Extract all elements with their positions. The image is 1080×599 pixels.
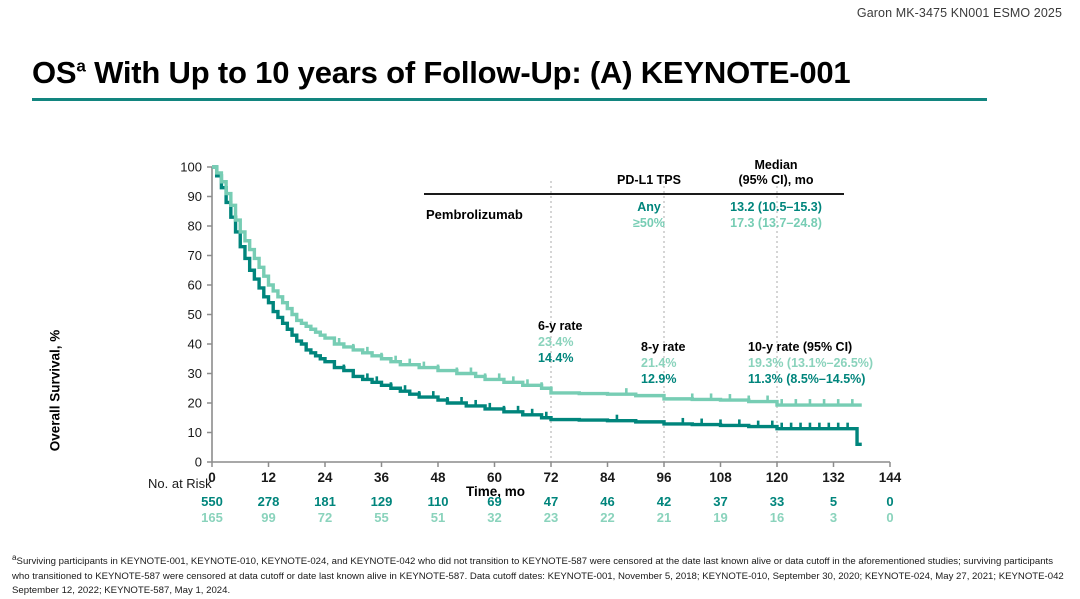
annotation-10y-rate: 10-y rate (95% CI) 19.3% (13.1%–26.5%) 1… bbox=[748, 339, 873, 387]
legend-group-any: Any bbox=[590, 194, 708, 214]
risk-cell: 51 bbox=[431, 510, 445, 525]
annotation-8y-rate: 8-y rate 21.4% 12.9% bbox=[641, 339, 685, 387]
annotation-8y-light: 21.4% bbox=[641, 355, 685, 371]
y-tick-label-50: 50 bbox=[188, 307, 202, 322]
risk-table-label: No. at Risk bbox=[148, 476, 212, 491]
x-tick-label-60: 60 bbox=[487, 470, 502, 485]
y-tick-label-40: 40 bbox=[188, 337, 202, 352]
risk-cell: 21 bbox=[657, 510, 671, 525]
y-tick-label-0: 0 bbox=[195, 455, 202, 470]
footnote: aSurviving participants in KEYNOTE-001, … bbox=[12, 552, 1068, 599]
legend-median-50: 17.3 (13.7–24.8) bbox=[708, 214, 844, 230]
legend-header-row: PD-L1 TPS Median (95% CI), mo bbox=[424, 158, 844, 191]
y-axis-title: Overall Survival, % bbox=[47, 330, 62, 452]
risk-cell: 19 bbox=[713, 510, 727, 525]
legend-col-group: PD-L1 TPS bbox=[590, 158, 708, 191]
risk-cell: 3 bbox=[830, 510, 837, 525]
legend-table: PD-L1 TPS Median (95% CI), mo Pembrolizu… bbox=[424, 158, 844, 230]
x-tick-label-132: 132 bbox=[822, 470, 845, 485]
legend-col-median: Median (95% CI), mo bbox=[708, 158, 844, 191]
y-tick-label-30: 30 bbox=[188, 366, 202, 381]
risk-cell: 99 bbox=[261, 510, 275, 525]
legend-treatment-label: Pembrolizumab bbox=[424, 194, 590, 230]
x-tick-label-96: 96 bbox=[656, 470, 672, 485]
x-tick-label-72: 72 bbox=[543, 470, 558, 485]
risk-cell: 47 bbox=[544, 494, 558, 509]
y-tick-label-20: 20 bbox=[188, 396, 202, 411]
risk-cell: 110 bbox=[428, 494, 449, 509]
legend-median-any: 13.2 (10.5–15.3) bbox=[708, 194, 844, 214]
title-text: OSa With Up to 10 years of Follow-Up: (A… bbox=[32, 56, 1048, 91]
risk-cell: 22 bbox=[600, 510, 614, 525]
y-tick-label-10: 10 bbox=[188, 425, 202, 440]
risk-cell: 165 bbox=[201, 510, 223, 525]
risk-cell: 72 bbox=[318, 510, 332, 525]
x-tick-label-24: 24 bbox=[317, 470, 333, 485]
y-tick-label-60: 60 bbox=[188, 278, 202, 293]
x-tick-label-48: 48 bbox=[430, 470, 446, 485]
legend-group-50: ≥50% bbox=[590, 214, 708, 230]
legend-col-median-line1: Median bbox=[754, 158, 797, 172]
y-tick-label-100: 100 bbox=[180, 160, 202, 175]
annotation-8y-title: 8-y rate bbox=[641, 339, 685, 355]
annotation-8y-dark: 12.9% bbox=[641, 371, 685, 387]
risk-cell: 37 bbox=[713, 494, 727, 509]
x-tick-label-120: 120 bbox=[766, 470, 789, 485]
footnote-text: Surviving participants in KEYNOTE-001, K… bbox=[12, 556, 1064, 596]
annotation-10y-light: 19.3% (13.1%–26.5%) bbox=[748, 355, 873, 371]
x-tick-label-12: 12 bbox=[261, 470, 276, 485]
legend-col-median-line2: (95% CI), mo bbox=[738, 173, 813, 187]
risk-cell: 0 bbox=[886, 494, 893, 509]
risk-cell: 278 bbox=[258, 494, 280, 509]
source-citation: Garon MK-3475 KN001 ESMO 2025 bbox=[857, 6, 1062, 20]
risk-row-any: 55027818112911069474642373350 bbox=[0, 494, 1080, 510]
risk-cell: 33 bbox=[770, 494, 784, 509]
y-tick-label-70: 70 bbox=[188, 248, 202, 263]
survival-chart: 0102030405060708090100012243648607284961… bbox=[0, 140, 1080, 540]
x-tick-label-84: 84 bbox=[600, 470, 616, 485]
risk-row-50: 1659972555132232221191630 bbox=[0, 510, 1080, 526]
slide: Garon MK-3475 KN001 ESMO 2025 OSa With U… bbox=[0, 0, 1080, 599]
risk-cell: 23 bbox=[544, 510, 558, 525]
risk-cell: 46 bbox=[600, 494, 614, 509]
y-tick-label-80: 80 bbox=[188, 219, 202, 234]
annotation-6y-dark: 14.4% bbox=[538, 350, 582, 366]
risk-cell: 129 bbox=[371, 494, 393, 509]
risk-cell: 0 bbox=[886, 510, 893, 525]
title-underline bbox=[32, 98, 987, 101]
risk-cell: 69 bbox=[487, 494, 501, 509]
annotation-10y-title: 10-y rate (95% CI) bbox=[748, 339, 873, 355]
x-tick-label-108: 108 bbox=[709, 470, 732, 485]
risk-cell: 181 bbox=[314, 494, 336, 509]
title-superscript: a bbox=[76, 57, 85, 76]
annotation-10y-dark: 11.3% (8.5%–14.5%) bbox=[748, 371, 873, 387]
legend-row-any: Pembrolizumab Any 13.2 (10.5–15.3) bbox=[424, 194, 844, 214]
risk-cell: 32 bbox=[487, 510, 501, 525]
annotation-6y-light: 23.4% bbox=[538, 334, 582, 350]
title-main: OS bbox=[32, 55, 76, 90]
title-rest: With Up to 10 years of Follow-Up: (A) KE… bbox=[86, 55, 851, 90]
x-tick-label-36: 36 bbox=[374, 470, 390, 485]
annotation-6y-rate: 6-y rate 23.4% 14.4% bbox=[538, 318, 582, 366]
risk-cell: 16 bbox=[770, 510, 784, 525]
annotation-6y-title: 6-y rate bbox=[538, 318, 582, 334]
x-tick-label-144: 144 bbox=[879, 470, 902, 485]
page-title: OSa With Up to 10 years of Follow-Up: (A… bbox=[32, 56, 1048, 101]
y-tick-label-90: 90 bbox=[188, 189, 202, 204]
risk-cell: 550 bbox=[201, 494, 223, 509]
risk-cell: 55 bbox=[374, 510, 388, 525]
risk-cell: 42 bbox=[657, 494, 671, 509]
risk-cell: 5 bbox=[830, 494, 837, 509]
